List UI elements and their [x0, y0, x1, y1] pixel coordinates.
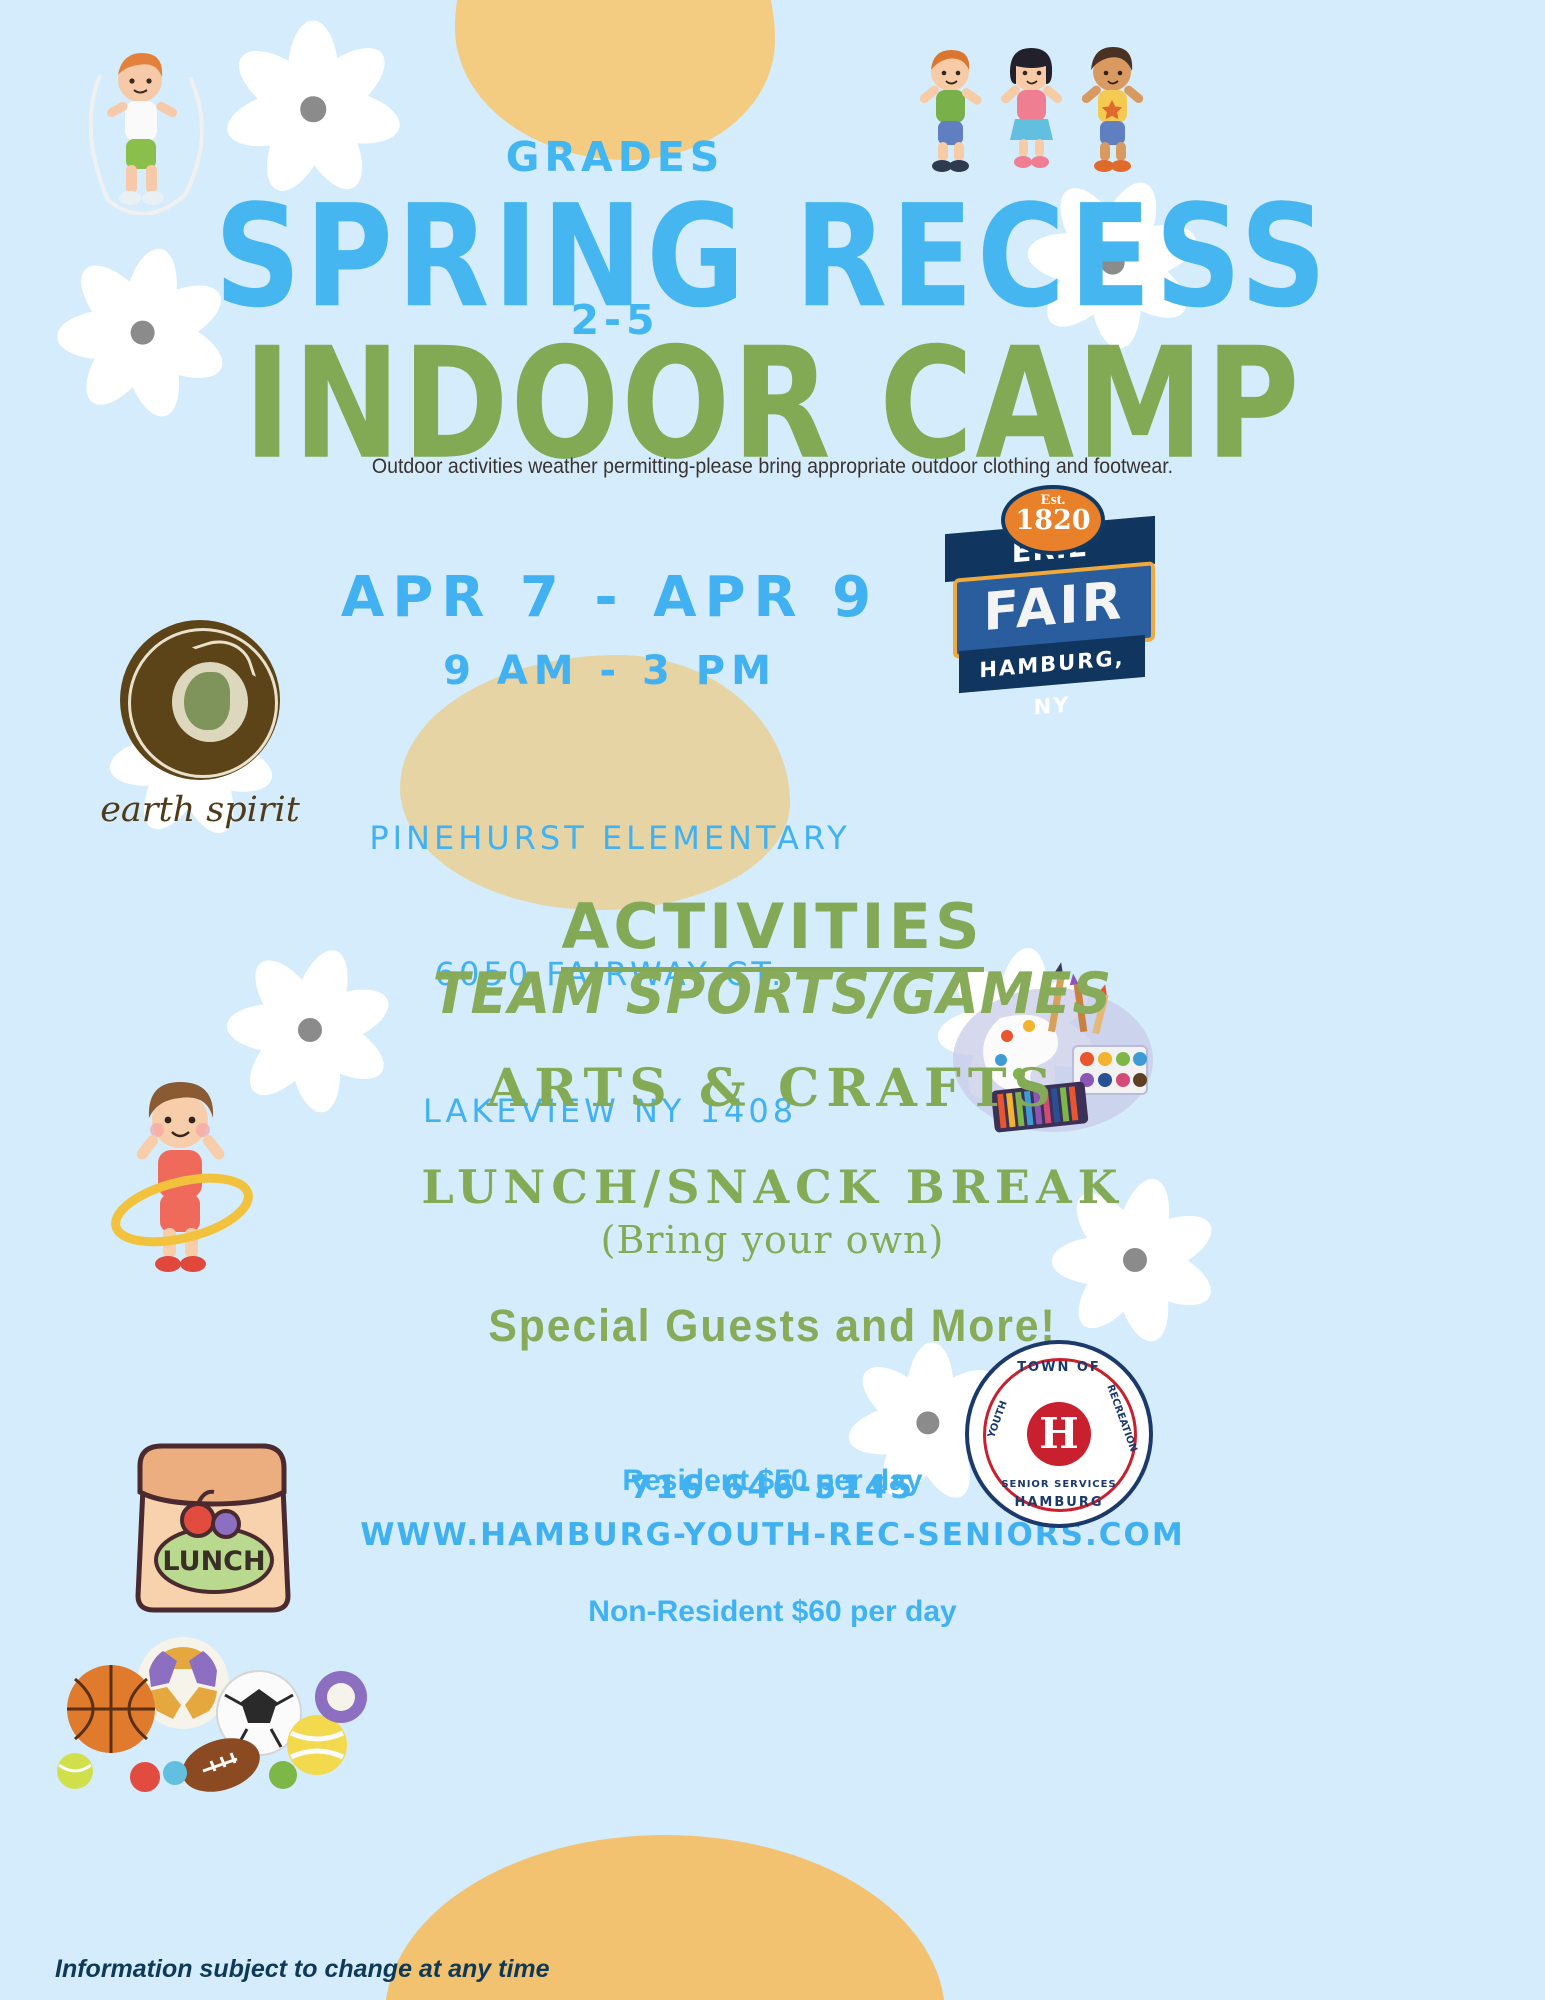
- activity-arts-crafts: ARTS & CRAFTS: [0, 1058, 1545, 1119]
- contact-phone[interactable]: 716-646-5145: [0, 1468, 1545, 1506]
- seal-mid-text: SENIOR SERVICES: [969, 1479, 1149, 1490]
- venue-name: PINEHURST ELEMENTARY: [270, 816, 950, 861]
- event-dates: APR 7 - APR 9: [270, 565, 950, 630]
- activity-lunch-break: LUNCH/SNACK BREAK: [0, 1160, 1545, 1214]
- seal-monogram: H: [1027, 1402, 1091, 1466]
- daisy-flower: [228, 24, 398, 194]
- seal-top-text: TOWN OF: [969, 1360, 1149, 1375]
- disclaimer-text: Information subject to change at any tim…: [55, 1955, 550, 1984]
- est-year: 1820: [1005, 509, 1101, 533]
- earth-spirit-disc-icon: [120, 620, 280, 780]
- town-of-hamburg-seal: TOWN OF YOUTH RECREATION SENIOR SERVICES…: [965, 1340, 1145, 1520]
- event-time: 9 AM - 3 PM: [270, 648, 950, 694]
- price-non-resident: Non-Resident $60 per day: [0, 1590, 1545, 1634]
- contact-website[interactable]: WWW.HAMBURG-YOUTH-REC-SENIORS.COM: [0, 1517, 1545, 1553]
- activity-special-guests: Special Guests and More!: [39, 1300, 1507, 1352]
- erie-county-fair-logo: ERIE COUNTY FAIR HAMBURG, NY Est. 1820: [945, 485, 1155, 715]
- weather-note: Outdoor activities weather permitting-pl…: [54, 455, 1491, 479]
- flyer-poster: LUNCH: [0, 0, 1545, 2000]
- activities-heading: ACTIVITIES: [0, 890, 1545, 963]
- activity-lunch-note: (Bring your own): [0, 1218, 1545, 1262]
- established-badge: Est. 1820: [1001, 485, 1105, 555]
- three-kids-illustration: [905, 40, 1170, 175]
- activity-team-sports: TEAM SPORTS/GAMES: [0, 960, 1545, 1027]
- seal-bottom-text: HAMBURG: [969, 1495, 1149, 1510]
